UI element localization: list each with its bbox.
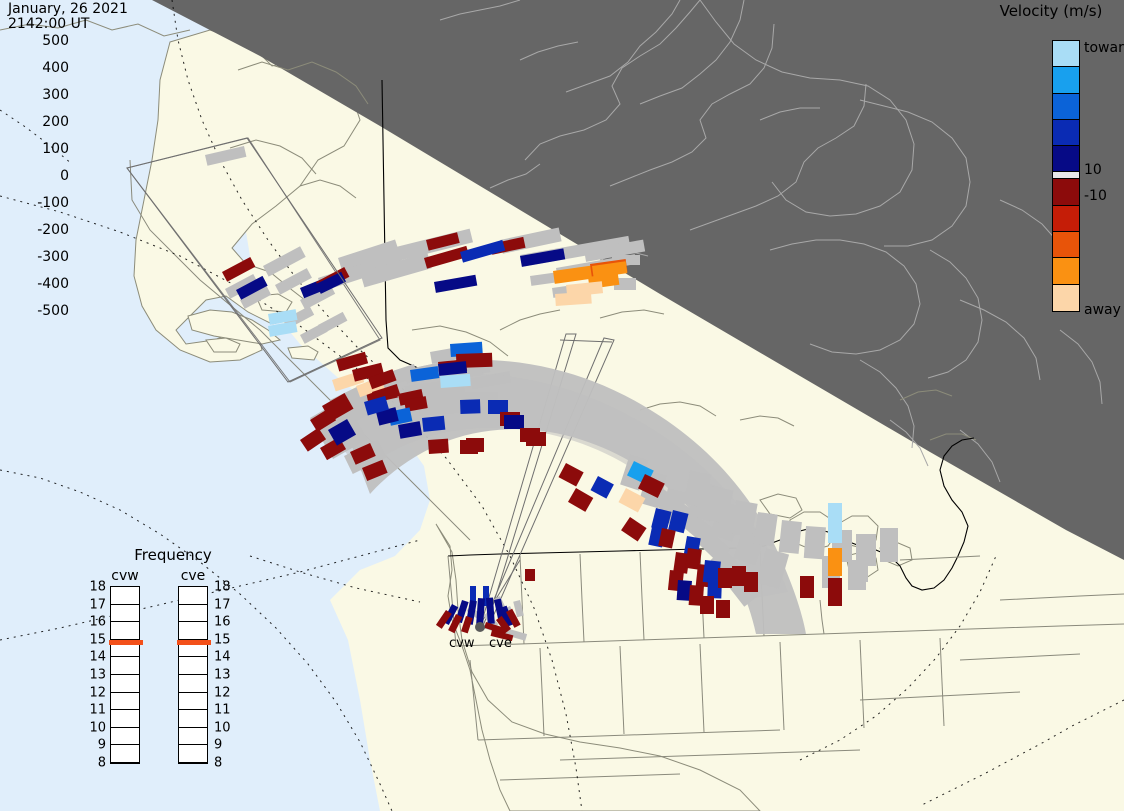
colorbar-segment [1053, 206, 1079, 232]
gauge-tick: 15 [214, 632, 238, 647]
colorbar-tick: -300 [37, 249, 69, 265]
colorbar-segment [1053, 67, 1079, 93]
colorbar-tick: -100 [37, 195, 69, 211]
gauge-scale-cvw [110, 586, 140, 764]
gauge-tick: 9 [214, 738, 238, 753]
gauge-value-marker-cvw [109, 640, 143, 645]
frequency-title: Frequency [88, 546, 258, 564]
colorbar-toward-label: toward [1084, 40, 1124, 56]
gauge-division [179, 622, 207, 640]
gauge-tick: 14 [82, 650, 106, 665]
datetime-label: January, 26 20212142:00 UT [8, 2, 128, 32]
gauge-tick: 12 [82, 685, 106, 700]
gauge-division [111, 657, 139, 675]
colorbar-segment [1053, 41, 1079, 67]
gauge-tick: 17 [82, 597, 106, 612]
colorbar-title: Velocity (m/s) [978, 2, 1124, 20]
colorbar-tick: 0 [60, 168, 69, 184]
gauge-tick: 10 [82, 720, 106, 735]
gauge-value-marker-cve [177, 640, 211, 645]
gauge-tick: 16 [214, 615, 238, 630]
gauge-division [111, 728, 139, 746]
colorbar-tick: 300 [42, 87, 69, 103]
colorbar-segment [1053, 285, 1079, 311]
gauge-tick: 10 [214, 720, 238, 735]
colorbar-pos-threshold-label: 10 [1084, 162, 1102, 178]
gauge-scale-cve [178, 586, 208, 764]
gauge-division [111, 710, 139, 728]
gauge-division [179, 587, 207, 605]
gauge-tick: 13 [82, 668, 106, 683]
gauge-division [111, 745, 139, 763]
gauge-label-cve: cve [170, 568, 216, 584]
colorbar-tick: 100 [42, 141, 69, 157]
gauge-division [179, 710, 207, 728]
gauge-division [111, 605, 139, 623]
gauge-division [111, 693, 139, 711]
frequency-panel: Frequency cvw18171615141312111098cve1817… [88, 546, 258, 784]
gauge-division [111, 675, 139, 693]
colorbar-tick: 400 [42, 60, 69, 76]
gauge-division [111, 587, 139, 605]
gauge-division [111, 622, 139, 640]
site-label-cvw: cvw [449, 636, 474, 651]
gauge-division [179, 675, 207, 693]
gauge-tick: 16 [82, 615, 106, 630]
colorbar-away-label: away [1084, 302, 1121, 318]
colorbar-segment [1053, 172, 1079, 179]
gauge-tick: 9 [82, 738, 106, 753]
site-label-cve: cve [489, 636, 512, 651]
gauge-label-cvw: cvw [102, 568, 148, 584]
gauge-division [179, 693, 207, 711]
gauge-tick: 17 [214, 597, 238, 612]
gauge-tick: 13 [214, 668, 238, 683]
colorbar-gradient [1052, 40, 1080, 312]
colorbar-segment [1053, 258, 1079, 284]
time-text: 2142:00 UT [8, 16, 89, 32]
gauge-division [179, 728, 207, 746]
colorbar-tick: 500 [42, 33, 69, 49]
colorbar-tick: -400 [37, 276, 69, 292]
gauge-tick: 18 [82, 580, 106, 595]
gauge-tick: 15 [82, 632, 106, 647]
colorbar-segment [1053, 146, 1079, 172]
date-text: January, 26 2021 [8, 1, 128, 17]
gauge-division [179, 605, 207, 623]
gauge-tick: 8 [82, 756, 106, 771]
gauge-tick: 14 [214, 650, 238, 665]
colorbar-segment [1053, 120, 1079, 146]
gauge-tick: 8 [214, 756, 238, 771]
gauge-tick: 11 [82, 703, 106, 718]
gauge-tick: 18 [214, 580, 238, 595]
colorbar-neg-threshold-label: -10 [1084, 188, 1107, 204]
colorbar-tick: -500 [37, 303, 69, 319]
colorbar-tick: 200 [42, 114, 69, 130]
radar-map-figure: January, 26 20212142:00 UT Velocity (m/s… [0, 0, 1124, 811]
colorbar-segment [1053, 94, 1079, 120]
gauge-division [179, 657, 207, 675]
colorbar-segment [1053, 232, 1079, 258]
colorbar-tick: -200 [37, 222, 69, 238]
colorbar-segment [1053, 179, 1079, 205]
gauge-tick: 11 [214, 703, 238, 718]
gauge-tick: 12 [214, 685, 238, 700]
gauge-division [179, 745, 207, 763]
